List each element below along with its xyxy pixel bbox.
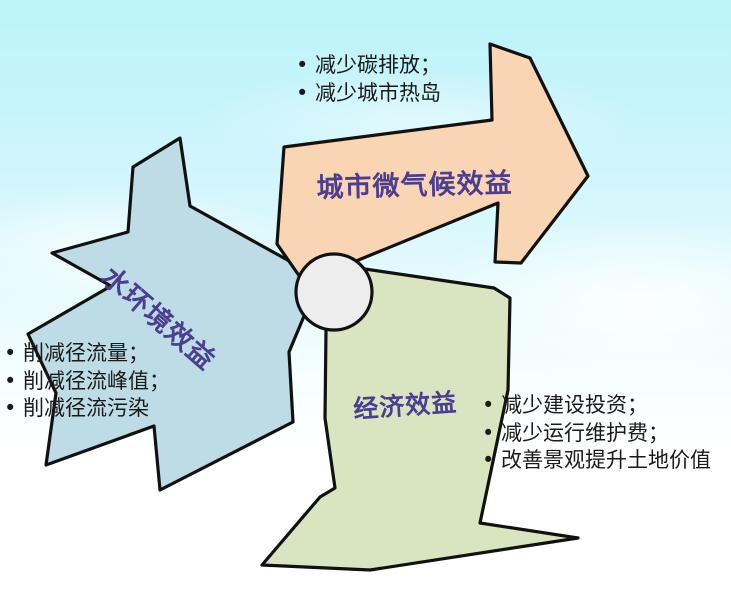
bullet-item: • 削减径流量； bbox=[4, 340, 170, 368]
bullet-item: • 削减径流污染 bbox=[4, 395, 170, 423]
arrow-label-micro-climate: 城市微气候效益 bbox=[316, 161, 513, 205]
arrow-label-economic: 经济效益 bbox=[352, 383, 458, 426]
diagram-canvas: 城市微气候效益 水环境效益 经济效益 • 减少碳排放； • 减少城市热岛 • 削… bbox=[0, 0, 731, 589]
bullet-item: • 削减径流峰值； bbox=[4, 368, 170, 396]
center-hub-circle[interactable] bbox=[296, 254, 372, 330]
bullets-micro-climate: • 减少碳排放； • 减少城市热岛 bbox=[296, 52, 441, 107]
bullet-item: • 改善景观提升土地价值 bbox=[482, 447, 711, 475]
bullet-item: • 减少城市热岛 bbox=[296, 80, 441, 108]
bullet-item: • 减少碳排放； bbox=[296, 52, 441, 80]
bullets-water-environment: • 削减径流量； • 削减径流峰值； • 削减径流污染 bbox=[4, 340, 170, 423]
bullets-economic: • 减少建设投资； • 减少运行维护费； • 改善景观提升土地价值 bbox=[482, 392, 711, 475]
bullet-item: • 减少运行维护费； bbox=[482, 420, 711, 448]
bullet-item: • 减少建设投资； bbox=[482, 392, 711, 420]
